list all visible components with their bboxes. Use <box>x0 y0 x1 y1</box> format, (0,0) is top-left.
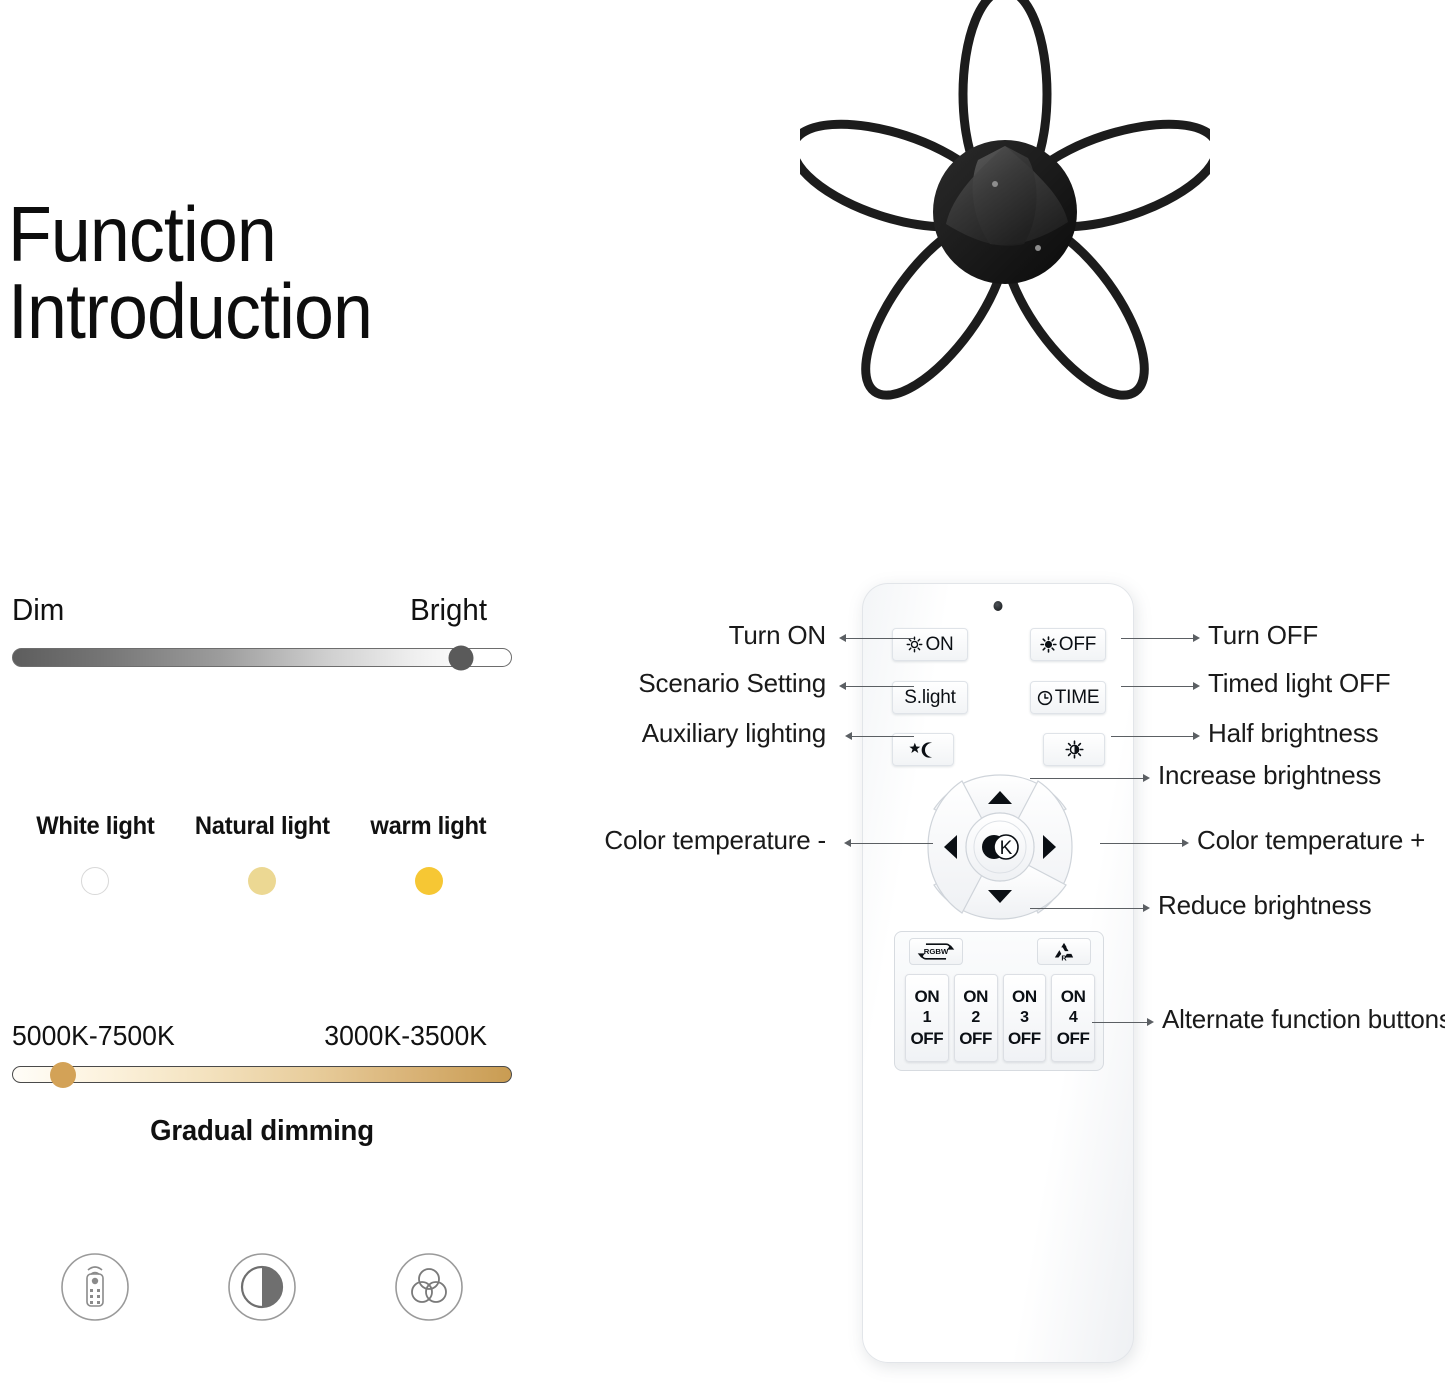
temp-label-cool: 5000K-7500K <box>12 1020 175 1052</box>
leader-increase-brightness <box>1030 778 1143 779</box>
callout-scenario-setting: Scenario Setting <box>560 668 826 699</box>
rgb-color-mixing-icon <box>392 1250 466 1324</box>
leader-half-brightness <box>1111 736 1193 737</box>
remote-zone-button-3[interactable]: ON 3 OFF <box>1003 974 1047 1062</box>
color-temperature-knob[interactable] <box>50 1062 76 1088</box>
temp-label-warm: 3000K-3500K <box>324 1020 487 1052</box>
zone-number: 3 <box>1020 1009 1029 1027</box>
leader-scenario-setting <box>846 686 914 687</box>
feature-brightness-contrast <box>179 1250 346 1324</box>
leader-turn-off <box>1121 638 1193 639</box>
remote-off-label: OFF <box>1059 634 1096 656</box>
recycle-r-label: R <box>1061 953 1067 962</box>
color-temperature-section: 5000K-7500K 3000K-3500K Gradual dimming <box>12 1020 512 1148</box>
zone-number: 2 <box>971 1009 980 1027</box>
leader-color-temperature-minus <box>851 843 933 844</box>
light-color-option-natural[interactable]: Natural light <box>179 812 346 895</box>
rgbw-cycle-icon: RGBW <box>915 941 957 962</box>
feature-icon-row <box>12 1250 512 1324</box>
zone-off-label: OFF <box>1008 1029 1041 1049</box>
zone-off-label: OFF <box>910 1029 943 1049</box>
leader-alternate-function-buttons <box>1092 1022 1147 1023</box>
remote-timer-button[interactable]: TIME <box>1030 681 1106 714</box>
remote-auxiliary-lighting-button[interactable] <box>892 733 954 766</box>
remote-turn-on-button[interactable]: ON <box>892 628 968 661</box>
light-color-option-white[interactable]: White light <box>12 812 179 895</box>
light-color-label: White light <box>16 812 174 841</box>
zone-on-label: ON <box>1061 987 1086 1007</box>
product-lamp-image <box>800 0 1210 460</box>
callout-color-temperature-minus: Color temperature - <box>540 825 826 856</box>
warm-light-swatch[interactable] <box>415 867 443 895</box>
remote-control-signal-icon <box>58 1250 132 1324</box>
light-color-label: Natural light <box>183 812 341 841</box>
page-title: Function Introduction <box>8 196 523 350</box>
callout-alternate-function-buttons: Alternate function buttons <box>1162 1004 1445 1035</box>
arrow-auxiliary-lighting <box>845 732 852 740</box>
clock-icon <box>1037 690 1053 706</box>
callout-color-temperature-plus: Color temperature + <box>1197 825 1425 856</box>
brightness-slider-section: Dim Bright <box>12 592 512 667</box>
recycle-r-icon: R <box>1049 941 1079 963</box>
leader-reduce-brightness <box>1030 908 1143 909</box>
arrow-turn-off <box>1193 634 1200 642</box>
remote-half-brightness-button[interactable] <box>1043 733 1105 766</box>
arrow-scenario-setting <box>839 682 846 690</box>
remote-dpad: K <box>924 771 1076 923</box>
callout-increase-brightness: Increase brightness <box>1158 760 1381 791</box>
ir-emitter-icon <box>994 601 1003 611</box>
remote-zone-button-2[interactable]: ON 2 OFF <box>954 974 998 1062</box>
color-temperature-track[interactable] <box>12 1066 512 1083</box>
brightness-slider-track[interactable] <box>12 648 512 667</box>
remote-alternate-function-panel: RGBW R ON 1 OFF ON 2 OFF <box>894 931 1104 1071</box>
leader-color-temperature-plus <box>1100 843 1182 844</box>
remote-zone-button-4[interactable]: ON 4 OFF <box>1051 974 1095 1062</box>
remote-zone-button-1[interactable]: ON 1 OFF <box>905 974 949 1062</box>
brightness-slider-labels: Dim Bright <box>12 592 487 628</box>
remote-zone-buttons: ON 1 OFF ON 2 OFF ON 3 OFF ON 4 OFF <box>905 974 1095 1062</box>
zone-off-label: OFF <box>1057 1029 1090 1049</box>
remote-time-label: TIME <box>1055 687 1100 709</box>
color-temperature-labels: 5000K-7500K 3000K-3500K <box>12 1020 487 1052</box>
callout-reduce-brightness: Reduce brightness <box>1158 890 1371 921</box>
arrow-color-temperature-plus <box>1182 839 1189 847</box>
arrow-reduce-brightness <box>1143 904 1150 912</box>
remote-slight-label: S.light <box>904 687 955 709</box>
feature-remote-control <box>12 1250 179 1324</box>
arrow-timed-light-off <box>1193 682 1200 690</box>
remote-on-label: ON <box>925 634 953 656</box>
white-light-swatch[interactable] <box>81 867 109 895</box>
callout-turn-off: Turn OFF <box>1208 620 1318 651</box>
feature-rgb-mixing <box>345 1250 512 1324</box>
leader-auxiliary-lighting <box>852 736 914 737</box>
half-sun-icon <box>1065 740 1084 759</box>
brightness-slider-knob[interactable] <box>449 645 474 670</box>
remote-control-body: ON OFF S.light TIME <box>862 583 1134 1363</box>
zone-number: 1 <box>923 1009 932 1027</box>
remote-turn-off-button[interactable]: OFF <box>1030 628 1106 661</box>
leader-turn-on <box>846 638 914 639</box>
light-color-options: White light Natural light warm light <box>12 812 512 895</box>
arrow-turn-on <box>839 634 846 642</box>
rgbw-label: RGBW <box>924 947 949 956</box>
arrow-half-brightness <box>1193 732 1200 740</box>
arrow-color-temperature-minus <box>844 839 851 847</box>
brightness-label-dim: Dim <box>12 592 64 628</box>
light-color-option-warm[interactable]: warm light <box>345 812 512 895</box>
color-temperature-k-label: K <box>1000 838 1013 859</box>
zone-on-label: ON <box>915 987 940 1007</box>
leader-timed-light-off <box>1121 686 1193 687</box>
zone-on-label: ON <box>1012 987 1037 1007</box>
remote-recycle-button[interactable]: R <box>1037 938 1091 965</box>
gradual-dimming-caption: Gradual dimming <box>25 1115 500 1148</box>
zone-off-label: OFF <box>959 1029 992 1049</box>
brightness-label-bright: Bright <box>410 592 487 628</box>
callout-timed-light-off: Timed light OFF <box>1208 668 1390 699</box>
callout-turn-on: Turn ON <box>560 620 826 651</box>
zone-on-label: ON <box>963 987 988 1007</box>
callout-auxiliary-lighting: Auxiliary lighting <box>560 718 826 749</box>
callout-half-brightness: Half brightness <box>1208 718 1378 749</box>
natural-light-swatch[interactable] <box>248 867 276 895</box>
arrow-alternate-function-buttons <box>1147 1018 1154 1026</box>
remote-rgbw-button[interactable]: RGBW <box>909 938 963 965</box>
page-title-line-1: Function <box>8 196 523 273</box>
arrow-increase-brightness <box>1143 774 1150 782</box>
zone-number: 4 <box>1069 1009 1078 1027</box>
page-title-line-2: Introduction <box>8 273 523 350</box>
sun-filled-icon <box>1040 636 1057 653</box>
star-moon-icon <box>906 740 940 760</box>
brightness-contrast-icon <box>225 1250 299 1324</box>
light-color-label: warm light <box>350 812 508 841</box>
